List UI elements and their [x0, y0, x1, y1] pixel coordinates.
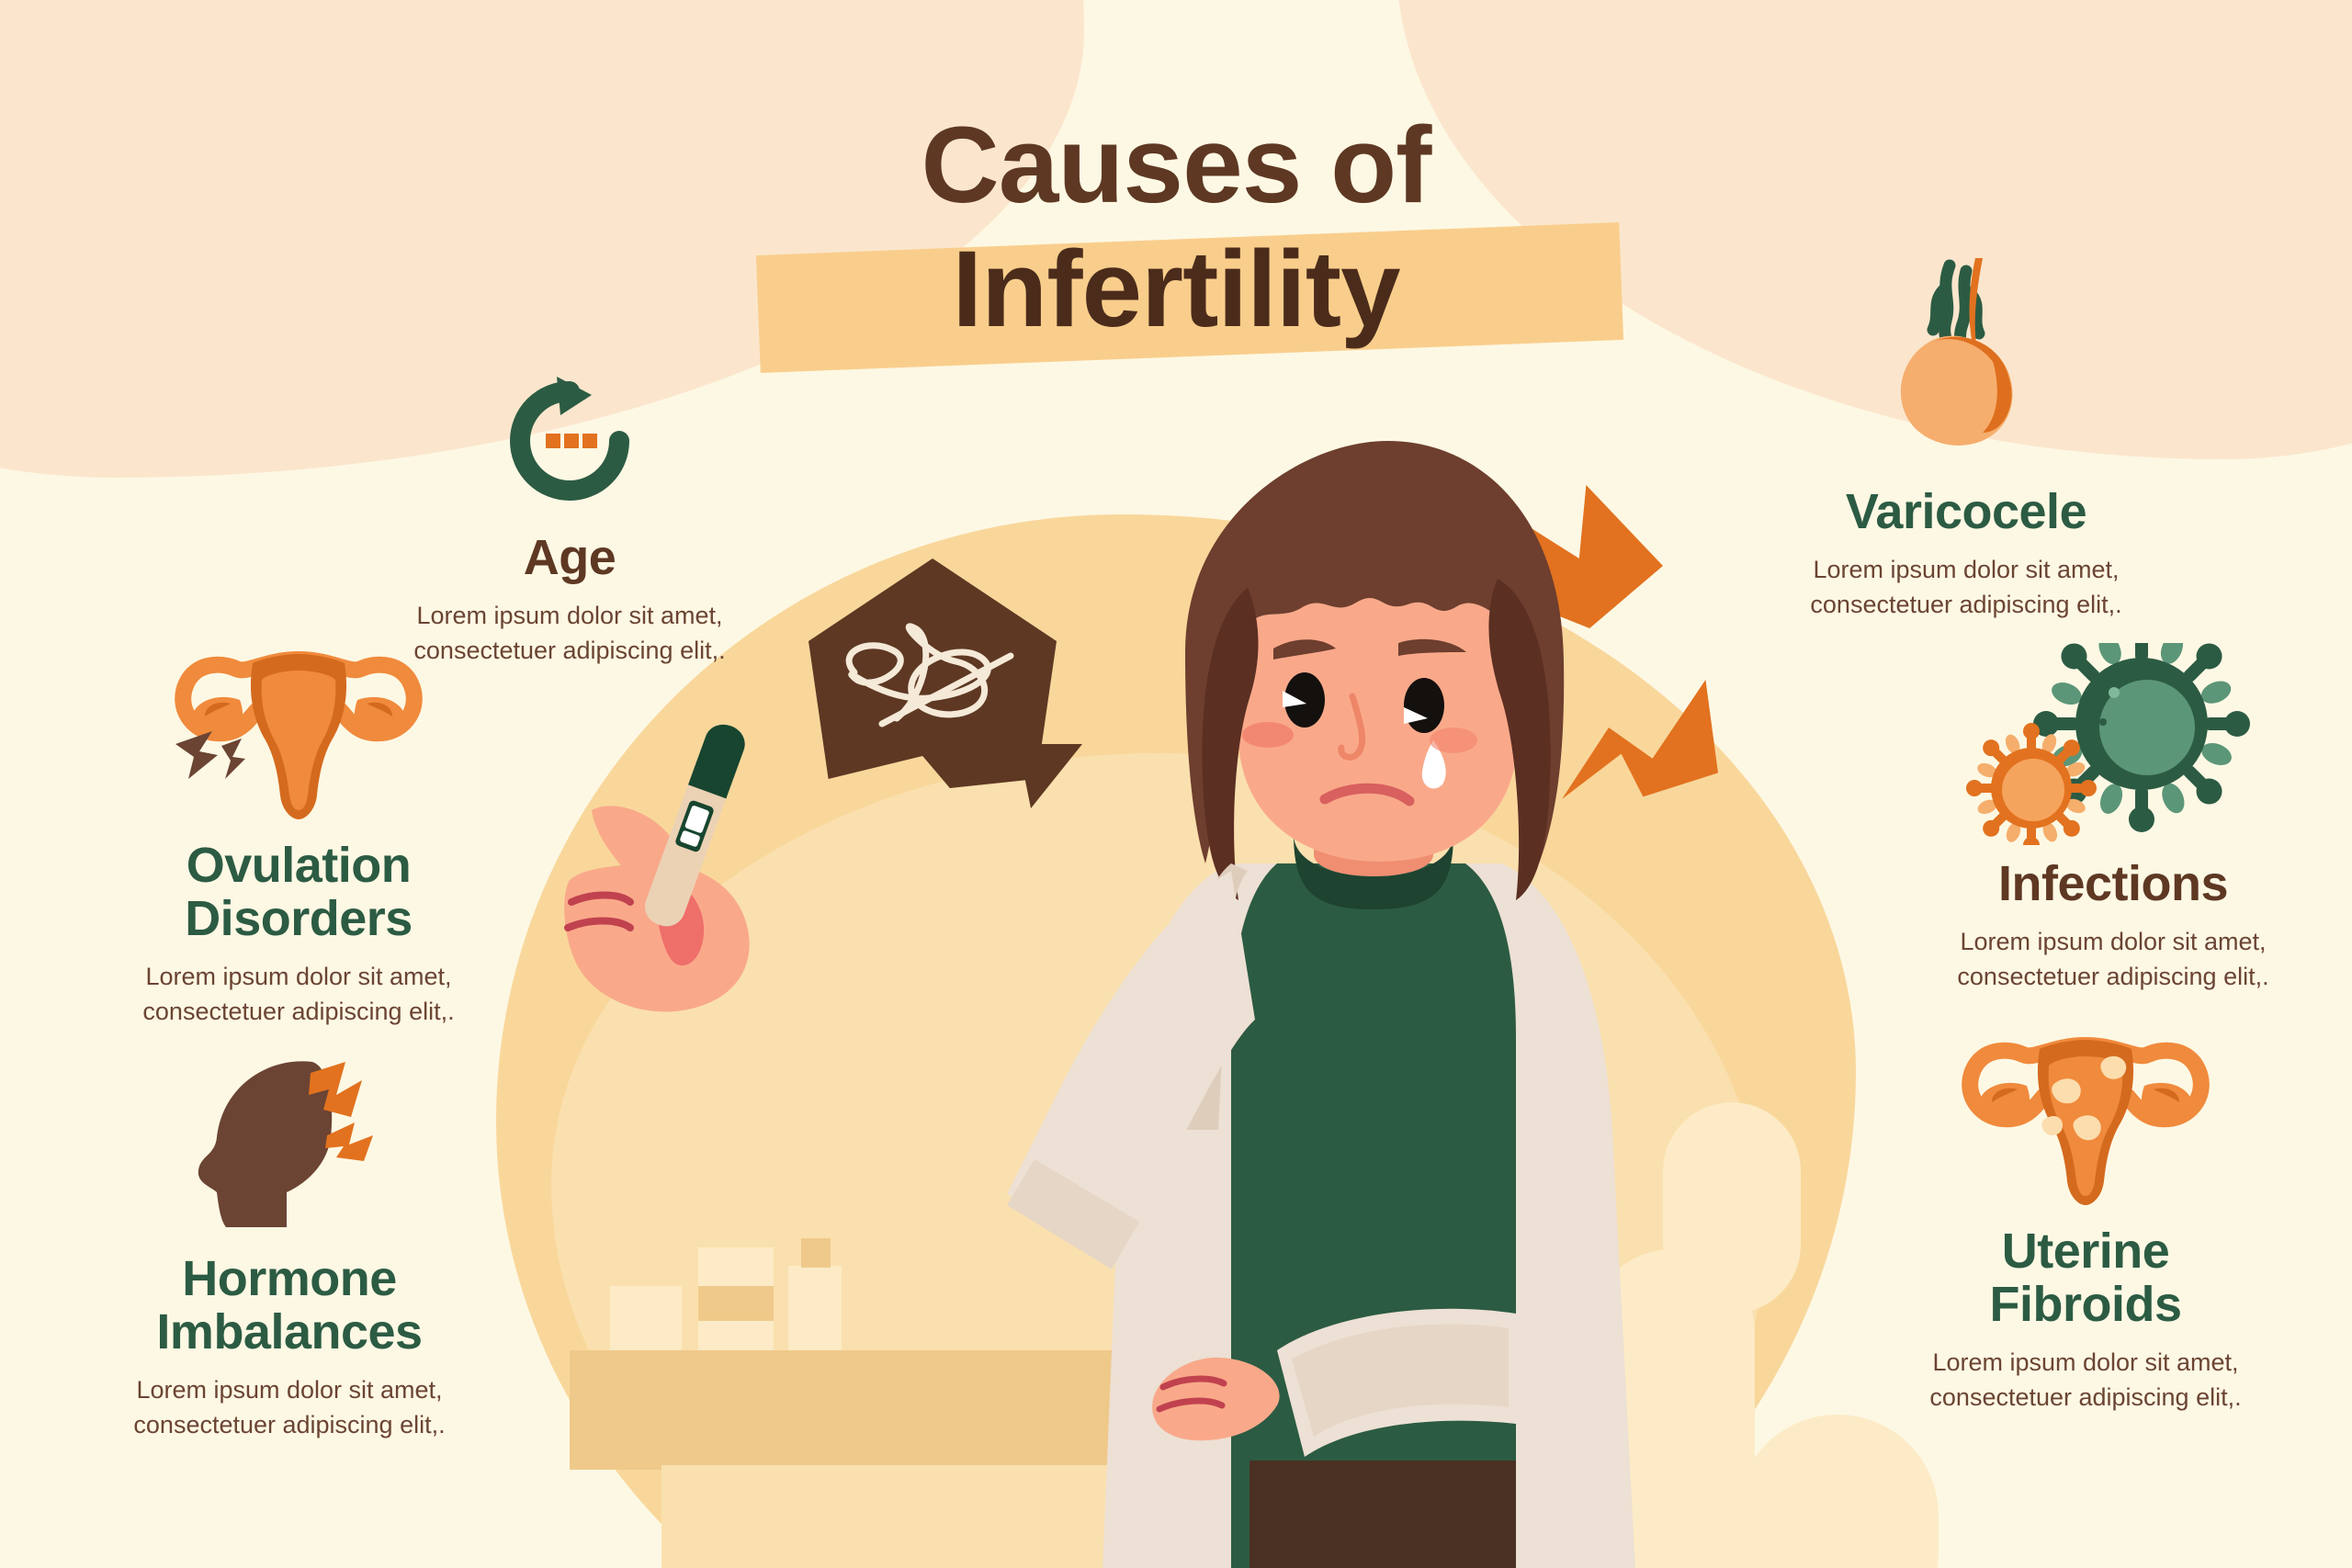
card-hormone-icon-wrap: [60, 1047, 519, 1240]
card-age: Age Lorem ipsum dolor sit amet, consecte…: [340, 326, 799, 668]
crying-woman-illustration: [1001, 432, 1700, 1568]
uterus-pain-icon: [161, 643, 436, 827]
wave-shape-2: [1736, 1415, 1939, 1568]
card-fibroids-desc: Lorem ipsum dolor sit amet, consectetuer…: [1856, 1345, 2315, 1416]
uterus-fibroids-icon: [1948, 1029, 2223, 1213]
card-ovulation-desc: Lorem ipsum dolor sit amet, consectetuer…: [78, 959, 519, 1030]
head-lightning-icon: [165, 1056, 413, 1240]
bottle-shape-1: [610, 1286, 682, 1352]
card-fibroids-title: Uterine Fibroids: [1856, 1225, 2315, 1332]
bottle-shape-3: [788, 1266, 842, 1352]
card-infections-desc: Lorem ipsum dolor sit amet, consectetuer…: [1902, 924, 2324, 995]
bottle-cap: [801, 1238, 831, 1268]
circular-arrow-icon: [496, 367, 643, 519]
card-varicocele-icon-wrap: [1718, 253, 2214, 473]
card-hormone-desc: Lorem ipsum dolor sit amet, consectetuer…: [60, 1372, 519, 1443]
card-varicocele-desc: Lorem ipsum dolor sit amet, consectetuer…: [1718, 552, 2214, 623]
card-ovulation-disorders: Ovulation Disorders Lorem ipsum dolor si…: [78, 634, 519, 1029]
card-age-title: Age: [340, 532, 799, 585]
virus-icon: [1962, 643, 2265, 845]
card-varicocele: Varicocele Lorem ipsum dolor sit amet, c…: [1718, 253, 2214, 622]
card-age-icon-wrap: [340, 326, 799, 519]
card-infections-title: Infections: [1902, 858, 2324, 911]
card-hormone-title: Hormone Imbalances: [60, 1253, 519, 1359]
card-varicocele-title: Varicocele: [1718, 486, 2214, 539]
card-infections-icon-wrap: [1902, 634, 2324, 845]
card-infections: Infections Lorem ipsum dolor sit amet, c…: [1902, 634, 2324, 994]
infographic-poster: Causes of Infertility: [0, 0, 2352, 1568]
card-ovulation-title: Ovulation Disorders: [78, 840, 519, 946]
bottle-band: [698, 1286, 774, 1321]
testicle-veins-icon: [1874, 253, 2058, 473]
card-uterine-fibroids: Uterine Fibroids Lorem ipsum dolor sit a…: [1856, 1020, 2315, 1415]
card-fibroids-icon-wrap: [1856, 1020, 2315, 1213]
card-hormone-imbalances: Hormone Imbalances Lorem ipsum dolor sit…: [60, 1047, 519, 1442]
hand-with-pregnancy-test: [542, 698, 928, 1084]
title-line-1: Causes of: [0, 110, 2352, 220]
card-ovulation-icon-wrap: [78, 634, 519, 827]
